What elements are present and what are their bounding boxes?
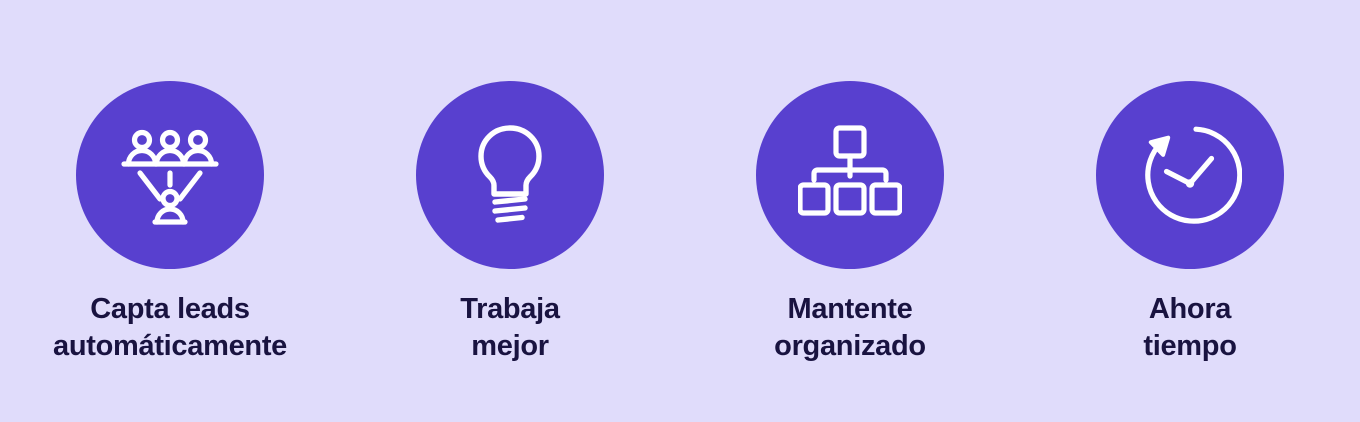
clock-arrow-icon xyxy=(1138,123,1242,227)
feature-label-mantente-organizado: Mantente organizado xyxy=(774,291,926,365)
feature-label-trabaja-mejor: Trabaja mejor xyxy=(460,291,559,365)
feature-item-trabaja-mejor[interactable]: Trabaja mejor xyxy=(340,81,680,365)
icon-circle-trabaja-mejor xyxy=(416,81,604,269)
feature-label-capta-leads: Capta leads automáticamente xyxy=(53,291,287,365)
feature-item-ahora-tiempo[interactable]: Ahora tiempo xyxy=(1020,81,1360,365)
leads-funnel-icon xyxy=(118,123,222,227)
feature-label-ahora-tiempo: Ahora tiempo xyxy=(1143,291,1236,365)
features-strip: Capta leads automáticamente Trabaja mejo… xyxy=(0,0,1360,422)
icon-circle-capta-leads xyxy=(76,81,264,269)
icon-circle-ahora-tiempo xyxy=(1096,81,1284,269)
lightbulb-icon xyxy=(458,123,562,227)
feature-item-capta-leads[interactable]: Capta leads automáticamente xyxy=(0,81,340,365)
icon-circle-mantente-organizado xyxy=(756,81,944,269)
org-chart-icon xyxy=(798,123,902,227)
feature-item-mantente-organizado[interactable]: Mantente organizado xyxy=(680,81,1020,365)
